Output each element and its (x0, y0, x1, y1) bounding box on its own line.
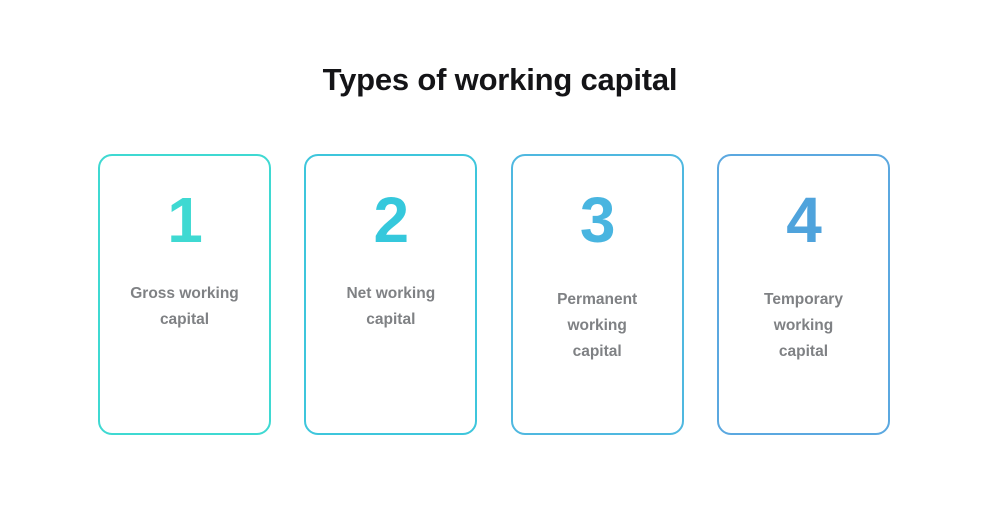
card-number-2: 2 (306, 186, 475, 254)
card-1[interactable]: 1 Gross working capital (98, 154, 271, 435)
cards-row: 1 Gross working capital 2 Net working ca… (98, 154, 890, 435)
card-label-3: Permanent working capital (523, 287, 672, 365)
card-label-1: Gross working capital (110, 281, 259, 333)
card-label-2: Net working capital (316, 281, 465, 333)
card-4[interactable]: 4 Temporary working capital (717, 154, 890, 435)
card-label-4: Temporary working capital (729, 287, 878, 365)
infographic-canvas: Types of working capital 1 Gross working… (0, 0, 1000, 531)
card-number-3: 3 (513, 186, 682, 254)
page-title: Types of working capital (0, 60, 1000, 100)
card-number-4: 4 (719, 186, 888, 254)
card-3[interactable]: 3 Permanent working capital (511, 154, 684, 435)
card-number-1: 1 (100, 186, 269, 254)
card-2[interactable]: 2 Net working capital (304, 154, 477, 435)
